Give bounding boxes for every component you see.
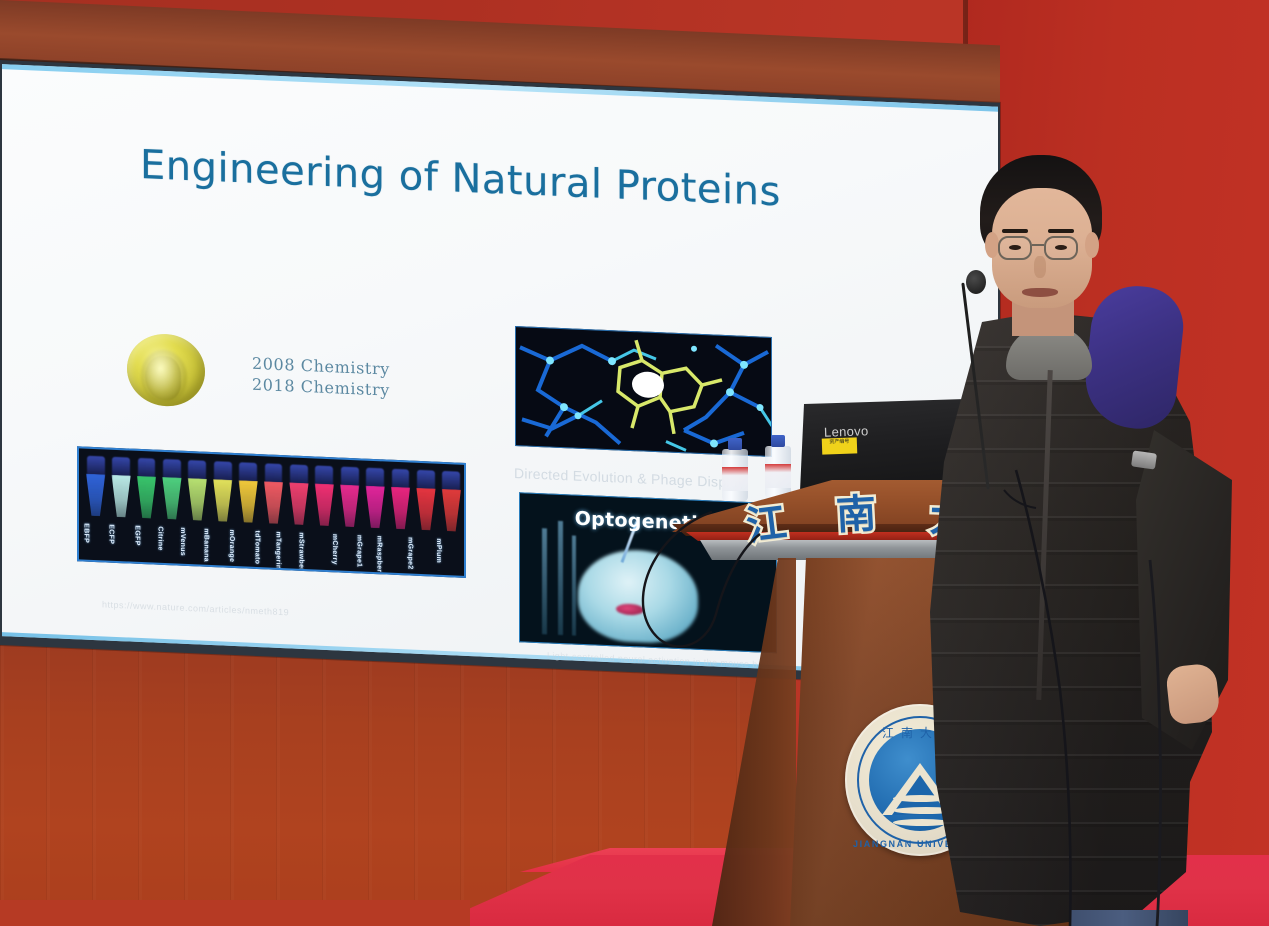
tube-label: EGFP — [133, 525, 140, 546]
floor-strip — [0, 900, 470, 926]
speaker-nose — [1034, 256, 1046, 278]
tube-label: mPlum — [435, 538, 442, 563]
nobel-medal-icon — [127, 332, 205, 407]
nobel-medal-portrait — [145, 355, 181, 401]
laptop-asset-sticker: 资产编号 — [822, 437, 858, 454]
speaker-jeans — [1070, 910, 1188, 926]
optogenetics-caption: Light-controlled neural activation in th… — [547, 650, 774, 670]
speaker-eyebrow-left — [1002, 229, 1028, 233]
tube-body — [137, 476, 156, 519]
tube-label: mOrange — [228, 529, 235, 562]
tube-label: mVenus — [180, 527, 187, 556]
water-bottle-1[interactable] — [722, 449, 748, 501]
slide-title: Engineering of Natural Proteins — [140, 142, 781, 215]
speaker-ear-left — [985, 232, 999, 258]
opto-bar-1 — [542, 528, 547, 634]
nobel-year-2018: 2018 Chemistry — [252, 374, 390, 401]
tube-label: EBFP — [82, 523, 89, 543]
tube-body — [188, 478, 207, 521]
speaker-ear-right — [1085, 232, 1099, 258]
tube-body — [315, 483, 334, 526]
tube-row: EBFPECFPEGFPCitrinemVenusmBananamOranget… — [84, 454, 463, 575]
tube-body — [289, 482, 308, 525]
microphone-icon — [966, 270, 986, 294]
tube-label: mCherry — [331, 534, 338, 565]
tube-label: mGrape1 — [355, 535, 362, 568]
molecule-caption: Directed Evolution & Phage Display — [514, 465, 745, 491]
bottle-cap-1 — [728, 438, 742, 450]
speaker-eye-left — [1009, 245, 1021, 250]
eyeglasses-bridge — [1032, 244, 1044, 246]
tube-body — [112, 475, 131, 518]
fluorescent-protein-tubes-image: EBFPECFPEGFPCitrinemVenusmBananamOranget… — [77, 446, 466, 578]
tube-body — [162, 477, 181, 520]
tube-label: mTangerine — [274, 531, 281, 573]
jacket-hood — [1081, 282, 1187, 433]
speaker-mouth — [1022, 288, 1058, 297]
tube-label: mStrawberry — [298, 532, 305, 578]
speaker-hand — [1165, 663, 1221, 726]
tube-body — [213, 479, 232, 522]
jacket-brand-logo — [1131, 450, 1157, 469]
speaker — [880, 140, 1240, 926]
protein-tube: ECFP — [109, 455, 132, 561]
speaker-eye-right — [1055, 245, 1067, 250]
tube-label: mRaspberry — [375, 536, 382, 578]
bottle-label-2 — [765, 464, 791, 488]
protein-tube: EGFP — [135, 456, 158, 562]
tube-body — [391, 487, 410, 530]
mouse-subject — [578, 548, 698, 645]
tube-body — [239, 480, 258, 523]
nobel-prize-years: 2008 Chemistry 2018 Chemistry — [252, 353, 390, 401]
protein-tube: EBFP — [84, 454, 107, 560]
podium-hanzi-2: 南 — [835, 481, 878, 541]
protein-tube: mPlum — [440, 469, 463, 575]
tube-body — [340, 485, 359, 528]
speaker-eyebrow-right — [1048, 229, 1074, 233]
tube-label: ECFP — [108, 524, 115, 544]
tube-body — [86, 474, 105, 517]
opto-bar-2 — [558, 521, 563, 635]
tube-body — [416, 488, 435, 531]
lecture-hall-photo: Engineering of Natural Proteins 2008 Che… — [0, 0, 1269, 926]
opto-bar-3 — [572, 535, 576, 635]
bottle-label-1 — [722, 467, 748, 491]
tube-label: mBanana — [202, 528, 209, 562]
tube-label: tdTomato — [253, 530, 260, 564]
tube-body — [366, 486, 385, 529]
tube-body — [442, 489, 461, 532]
tube-body — [264, 481, 283, 524]
podium-hanzi-1: 江 — [743, 490, 790, 552]
tube-label: mGrape2 — [406, 537, 413, 570]
tubes-source-caption: https://www.nature.com/articles/nmeth819 — [102, 599, 289, 617]
bottle-cap-2 — [771, 435, 785, 447]
tube-label: Citrine — [156, 526, 163, 551]
